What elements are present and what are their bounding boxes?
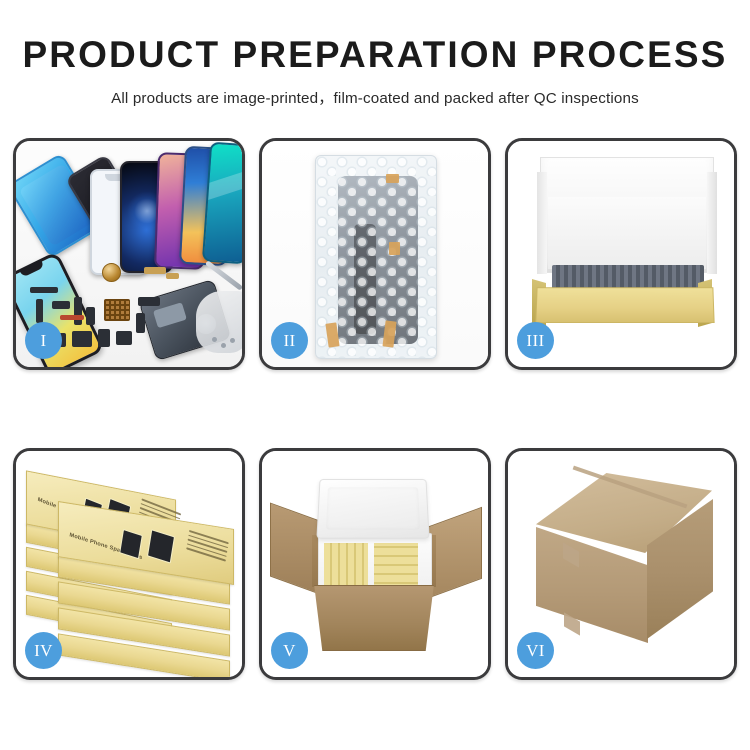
header: PRODUCT PREPARATION PROCESS All products… [0, 0, 750, 108]
page-title: PRODUCT PREPARATION PROCESS [0, 36, 750, 73]
tape-icon [386, 174, 399, 183]
carton-front-icon [306, 585, 442, 651]
copper-coil-icon [102, 263, 121, 282]
spare-part-icon [116, 331, 132, 345]
step-badge-1: I [25, 322, 62, 359]
spare-part-icon [60, 315, 84, 320]
foam-lid-open-icon [316, 479, 429, 539]
spare-part-icon [98, 329, 110, 347]
step-panel-5[interactable]: V [259, 448, 491, 680]
spare-part-icon [138, 297, 160, 306]
process-steps-grid: I II [13, 138, 737, 680]
yellow-box-front-icon [535, 287, 714, 323]
step-panel-3[interactable]: III [505, 138, 737, 370]
yellow-boxes-inside-icon [324, 543, 426, 591]
step-badge-6: VI [517, 632, 554, 669]
spare-part-icon [144, 267, 166, 274]
spare-part-icon [36, 299, 43, 323]
step-badge-3: III [517, 322, 554, 359]
phone-screen-icon [202, 142, 245, 265]
spare-part-icon [30, 287, 58, 293]
step-badge-4: IV [25, 632, 62, 669]
spare-part-icon [74, 297, 82, 325]
spare-part-icon [136, 313, 145, 333]
foam-lining-icon [548, 197, 706, 269]
step-panel-6[interactable]: VI [505, 448, 737, 680]
spare-part-icon [52, 301, 70, 309]
step-badge-5: V [271, 632, 308, 669]
step-panel-2[interactable]: II [259, 138, 491, 370]
page-subtitle: All products are image-printed，film-coat… [0, 86, 750, 108]
spare-part-icon [86, 307, 95, 325]
spare-part-icon [166, 273, 179, 279]
step-panel-4[interactable]: Mobile Phone Spare Parts Mobile Phone Sp… [13, 448, 245, 680]
spare-part-icon [72, 331, 92, 347]
chip-grid-icon [104, 299, 130, 321]
step-panel-1[interactable]: I [13, 138, 245, 370]
tape-icon [389, 242, 400, 255]
step-badge-2: II [271, 322, 308, 359]
screws-icon [212, 337, 238, 349]
product-preparation-infographic: PRODUCT PREPARATION PROCESS All products… [0, 0, 750, 750]
